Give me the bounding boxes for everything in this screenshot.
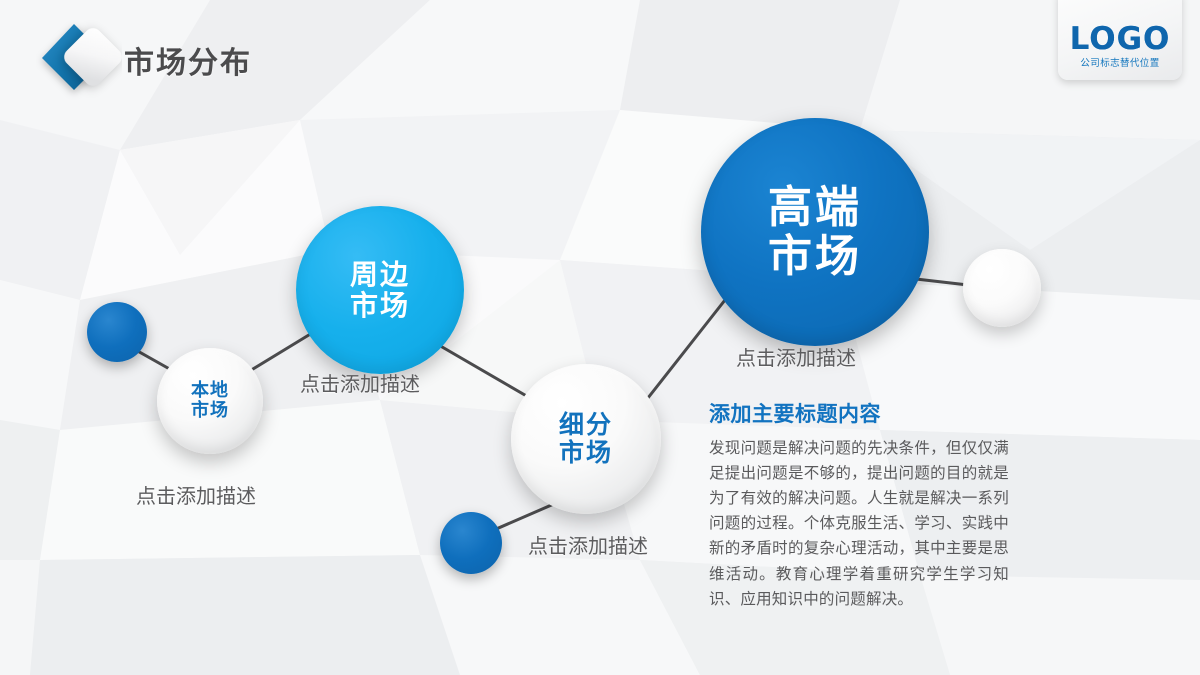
node-local-line2: 市场	[191, 401, 229, 421]
logo-wordmark: LOGO	[1070, 24, 1171, 55]
accent-dot-left[interactable]	[87, 302, 147, 362]
node-local-line1: 本地	[191, 381, 229, 401]
page-title: 市场分布	[124, 38, 252, 82]
node-surrounding-line2: 市场	[350, 290, 410, 321]
slide-header: 市场分布 LOGO 公司标志替代位置	[0, 0, 1200, 100]
node-premium-market[interactable]: 高端 市场	[701, 118, 929, 346]
node-premium-line2: 市场	[768, 232, 862, 281]
description-body[interactable]: 发现问题是解决问题的先决条件，但仅仅满足提出问题是不够的，提出问题的目的就是为了…	[709, 436, 1009, 612]
caption-premium-market[interactable]: 点击添加描述	[736, 342, 856, 371]
chevron-diamond-logo-mark	[36, 16, 122, 100]
caption-local-market[interactable]: 点击添加描述	[136, 480, 256, 509]
connector-lines	[0, 0, 1200, 675]
accent-dot-bottom[interactable]	[440, 512, 502, 574]
description-heading[interactable]: 添加主要标题内容	[709, 398, 1009, 428]
node-premium-line1: 高端	[768, 183, 862, 232]
node-surrounding-market[interactable]: 周边 市场	[296, 206, 464, 374]
caption-surrounding-market[interactable]: 点击添加描述	[300, 368, 420, 397]
slide: 市场分布 LOGO 公司标志替代位置 高端 市场 周边 市场 细分 市场 本地 …	[0, 0, 1200, 675]
caption-segment-market[interactable]: 点击添加描述	[528, 530, 648, 559]
logo-subtitle: 公司标志替代位置	[1080, 59, 1159, 69]
node-surrounding-line1: 周边	[350, 259, 410, 290]
node-segment-market[interactable]: 细分 市场	[511, 364, 661, 514]
link-segment-to-premium	[644, 300, 725, 403]
link-premium-to-plainright	[916, 279, 968, 285]
accent-circle-right[interactable]	[963, 249, 1041, 327]
description-block: 添加主要标题内容 发现问题是解决问题的先决条件，但仅仅满足提出问题是不够的，提出…	[709, 398, 1009, 612]
node-segment-line1: 细分	[559, 411, 613, 439]
link-surround-to-segment	[437, 344, 530, 398]
node-local-market[interactable]: 本地 市场	[157, 348, 263, 454]
node-segment-line2: 市场	[559, 439, 613, 467]
link-local-to-surround	[248, 330, 317, 372]
company-logo-placeholder[interactable]: LOGO 公司标志替代位置	[1058, 0, 1182, 80]
